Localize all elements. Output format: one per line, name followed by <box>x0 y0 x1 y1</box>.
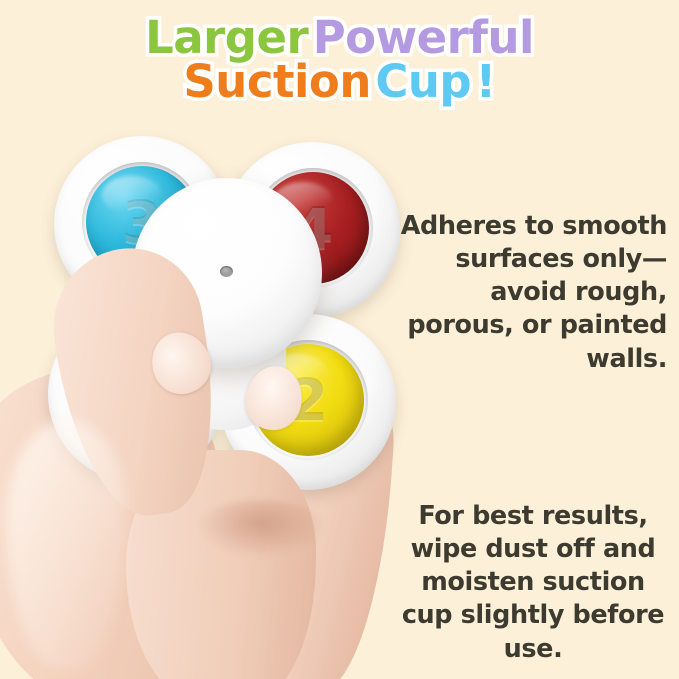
headline-word-powerful: Powerful <box>313 16 534 59</box>
palm-highlight <box>6 420 126 670</box>
suction-cup-pinhole-icon <box>220 266 233 277</box>
feature-text-adhesion: Adheres to smooth surfaces only—avoid ro… <box>399 210 667 376</box>
headline-word-larger: Larger <box>145 16 308 59</box>
headline-exclamation: ! <box>476 60 496 103</box>
product-feature-image: 3 4 1 2 <box>0 0 679 679</box>
feature-text-best-results: For best results, wipe dust off and mois… <box>399 500 667 666</box>
headline-line-2: Suction Cup ! <box>0 60 679 103</box>
headline-word-cup: Cup <box>375 60 471 103</box>
product-photo: 3 4 1 2 <box>0 120 440 679</box>
headline-line-1: Larger Powerful <box>0 16 679 59</box>
highlight-gloss <box>102 176 162 214</box>
knuckle-shadow <box>196 500 326 558</box>
headline-word-suction: Suction <box>183 60 371 103</box>
headline: Larger Powerful Suction Cup ! <box>0 16 679 103</box>
